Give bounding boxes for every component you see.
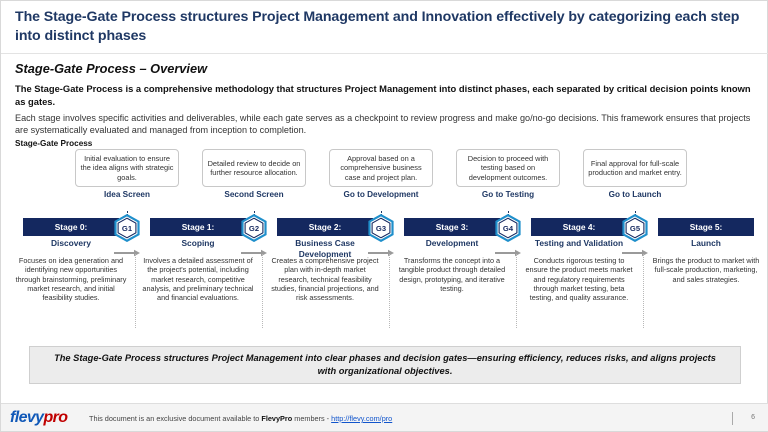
gate-callout: Final approval for full-scale production…	[583, 149, 687, 187]
stage-name-4: Testing and Validation	[531, 238, 627, 249]
gate-hexagon-g1[interactable]: G1	[113, 214, 141, 242]
stage-description-3: Transforms the concept into a tangible p…	[396, 256, 508, 293]
gate-callout: Decision to proceed with testing based o…	[456, 149, 560, 187]
lead-paragraph: The Stage-Gate Process is a comprehensiv…	[15, 83, 757, 108]
gate-code: G1	[113, 214, 141, 242]
summary-box: The Stage-Gate Process structures Projec…	[29, 346, 741, 384]
gate-callout: Approval based on a comprehensive busine…	[329, 149, 433, 187]
stage-name-5: Launch	[658, 238, 754, 249]
flow-arrow-5	[621, 244, 649, 252]
diagram-label: Stage-Gate Process	[15, 139, 92, 148]
summary-text: The Stage-Gate Process structures Projec…	[52, 352, 718, 378]
gate-hexagon-g3[interactable]: G3	[367, 214, 395, 242]
gate-code: G2	[240, 214, 268, 242]
stage-description-5: Brings the product to market with full-s…	[650, 256, 762, 284]
gate-column-g5: Final approval for full-scale production…	[583, 149, 687, 199]
stage-bar-1[interactable]: Stage 1:	[150, 218, 246, 236]
gate-name: Second Screen	[202, 190, 306, 199]
stage-descriptions: Focuses on idea generation and identifyi…	[1, 256, 768, 334]
stage-gate-diagram: Initial evaluation to ensure the idea al…	[1, 149, 768, 344]
flow-arrow-2	[240, 244, 268, 252]
gate-name: Go to Testing	[456, 190, 560, 199]
gate-column-g1: Initial evaluation to ensure the idea al…	[75, 149, 179, 199]
gate-code: G4	[494, 214, 522, 242]
footer-text-mid: members -	[292, 414, 331, 423]
footer: flevypro This document is an exclusive d…	[1, 403, 768, 431]
page-title: The Stage-Gate Process structures Projec…	[15, 8, 755, 46]
stage-bar-3[interactable]: Stage 3:	[404, 218, 500, 236]
stage-description-4: Conducts rigorous testing to ensure the …	[523, 256, 635, 302]
stage-description-1: Involves a detailed assessment of the pr…	[142, 256, 254, 302]
body-paragraph: Each stage involves specific activities …	[15, 112, 757, 137]
stage-description-2: Creates a comprehensive project plan wit…	[269, 256, 381, 302]
flow-arrow-4	[494, 244, 522, 252]
logo-flevy: flevy	[10, 409, 43, 426]
column-divider	[262, 254, 263, 328]
gate-code: G3	[367, 214, 395, 242]
stage-bar-2[interactable]: Stage 2:	[277, 218, 373, 236]
gate-name: Go to Launch	[583, 190, 687, 199]
title-band: The Stage-Gate Process structures Projec…	[1, 1, 768, 54]
stage-name-3: Development	[404, 238, 500, 249]
logo-pro: pro	[43, 409, 67, 426]
gate-name: Idea Screen	[75, 190, 179, 199]
stage-bar-0[interactable]: Stage 0:	[23, 218, 119, 236]
footer-notice: This document is an exclusive document a…	[89, 414, 392, 423]
page-number: 6	[751, 414, 755, 421]
footer-brand: FlevyPro	[261, 414, 292, 423]
flow-arrow-3	[367, 244, 395, 252]
flevypro-logo: flevypro	[10, 409, 67, 427]
gate-code: G5	[621, 214, 649, 242]
section-heading: Stage-Gate Process – Overview	[15, 61, 207, 76]
stage-name-1: Scoping	[150, 238, 246, 249]
stage-row: Stage 0: Discovery G1 Stage 1: Scoping	[1, 218, 768, 236]
slide: The Stage-Gate Process structures Projec…	[0, 0, 768, 432]
gate-column-g3: Approval based on a comprehensive busine…	[329, 149, 433, 199]
gate-callout: Initial evaluation to ensure the idea al…	[75, 149, 179, 187]
stage-description-0: Focuses on idea generation and identifyi…	[15, 256, 127, 302]
gate-hexagon-g5[interactable]: G5	[621, 214, 649, 242]
gate-hexagon-g2[interactable]: G2	[240, 214, 268, 242]
stage-bar-5[interactable]: Stage 5:	[658, 218, 754, 236]
gate-callout: Detailed review to decide on further res…	[202, 149, 306, 187]
gate-name: Go to Development	[329, 190, 433, 199]
column-divider	[643, 254, 644, 328]
column-divider	[135, 254, 136, 328]
gate-column-g2: Detailed review to decide on further res…	[202, 149, 306, 199]
column-divider	[389, 254, 390, 328]
footer-divider	[732, 412, 733, 425]
flow-arrow-1	[113, 244, 141, 252]
column-divider	[516, 254, 517, 328]
stage-bar-4[interactable]: Stage 4:	[531, 218, 627, 236]
gate-hexagon-g4[interactable]: G4	[494, 214, 522, 242]
stage-name-0: Discovery	[23, 238, 119, 249]
gate-column-g4: Decision to proceed with testing based o…	[456, 149, 560, 199]
footer-text-before: This document is an exclusive document a…	[89, 414, 261, 423]
flevypro-link[interactable]: http://flevy.com/pro	[331, 414, 392, 423]
